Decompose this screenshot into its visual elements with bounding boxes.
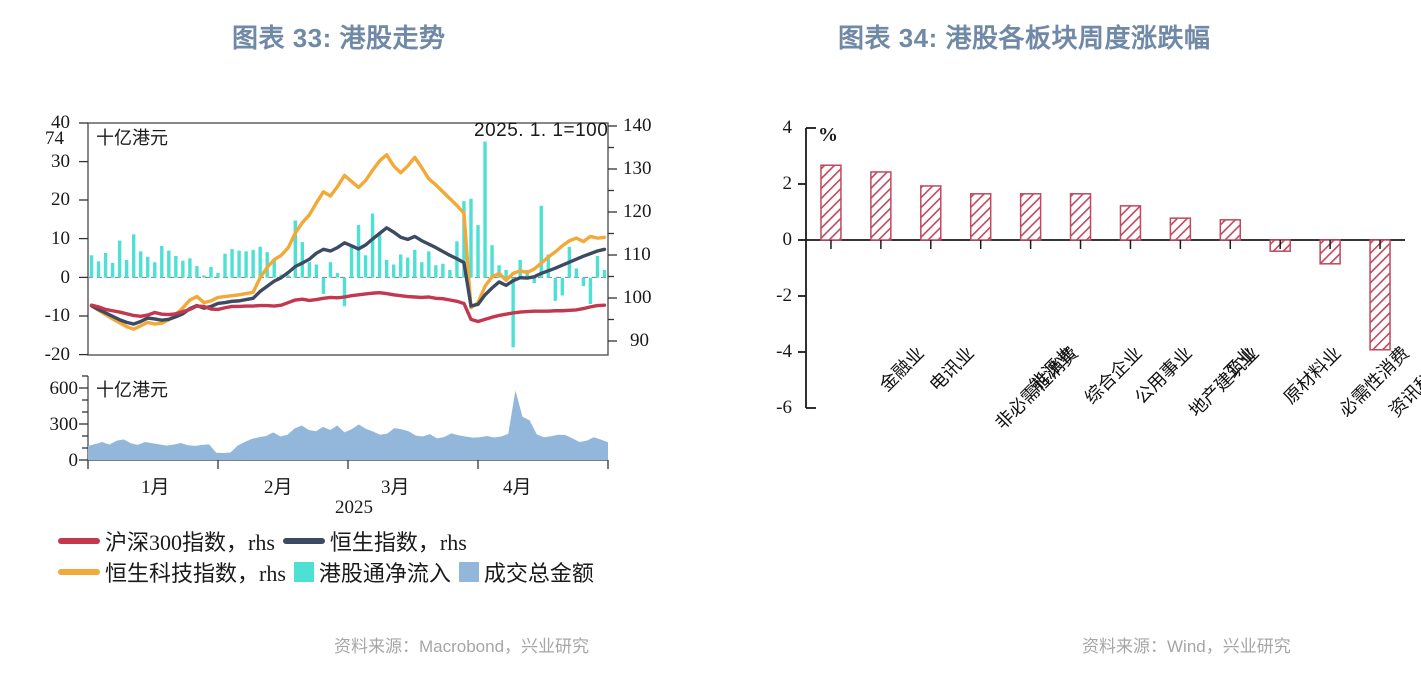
fig33-rtick-130: 130 bbox=[623, 158, 673, 180]
figure-33-panel: 图表 33: 港股走势 74 bbox=[0, 0, 760, 692]
fig34-ytick-m6: -6 bbox=[752, 397, 792, 419]
fig34-bar bbox=[1021, 194, 1041, 240]
fig34-yaxis bbox=[806, 128, 816, 408]
fig33-ytick-40: 40 bbox=[18, 112, 70, 134]
fig34-ytick-m2: -2 bbox=[752, 285, 792, 307]
fig33-ytick-20: 20 bbox=[18, 189, 70, 211]
legend-item-csi300[interactable]: 沪深300指数，rhs bbox=[58, 525, 283, 557]
fig33-ytick-10: 10 bbox=[18, 228, 70, 250]
fig33-btick-600: 600 bbox=[18, 378, 78, 400]
legend-row-1: 沪深300指数，rhs 恒生指数，rhs bbox=[58, 525, 698, 556]
fig34-bar-group bbox=[821, 165, 1390, 350]
fig34-ytick-2: 2 bbox=[752, 173, 792, 195]
fig33-bottom-axis-ticks bbox=[79, 376, 88, 460]
fig33-ytick-m20: -20 bbox=[18, 344, 70, 366]
fig34-bar bbox=[871, 172, 891, 240]
fig34-xticks bbox=[831, 240, 1380, 249]
figure-33-legend: 沪深300指数，rhs 恒生指数，rhs 恒生科技指数，rhs 港股通净流入 bbox=[58, 525, 698, 587]
fig33-xtick-jan: 1月 bbox=[141, 472, 170, 499]
fig33-normalisation-note: 2025. 1. 1=100 bbox=[474, 120, 608, 142]
fig33-xaxis-year: 2025 bbox=[335, 497, 373, 519]
fig34-bar bbox=[1071, 194, 1091, 240]
legend-label-northbound-flow: 港股通净流入 bbox=[319, 556, 451, 588]
report-figures-page: 图表 33: 港股走势 74 bbox=[0, 0, 1421, 692]
figure-33-title: 图表 33: 港股走势 bbox=[232, 18, 446, 55]
fig33-xtick-mar: 3月 bbox=[381, 472, 410, 499]
fig34-bar bbox=[1370, 240, 1390, 350]
fig33-rtick-90: 90 bbox=[630, 330, 680, 352]
fig34-bar bbox=[921, 186, 941, 240]
fig33-btick-0: 0 bbox=[18, 450, 78, 472]
fig34-bar bbox=[1170, 218, 1190, 240]
fig33-btick-300: 300 bbox=[18, 414, 78, 436]
fig33-xtick-feb: 2月 bbox=[264, 472, 293, 499]
turnover-swatch-icon bbox=[459, 562, 479, 582]
fig34-ytick-0: 0 bbox=[752, 229, 792, 251]
fig33-ytick-0: 0 bbox=[18, 267, 70, 289]
figure-34-panel: 图表 34: 港股各板块周度涨跌幅 bbox=[760, 0, 1421, 692]
fig33-line-csi300 bbox=[92, 293, 605, 322]
fig34-bar bbox=[1220, 220, 1240, 240]
hstech-line-swatch-icon bbox=[58, 569, 100, 575]
fig33-bottom-xticks bbox=[88, 460, 608, 469]
fig34-unit-label: % bbox=[818, 124, 838, 147]
legend-label-turnover: 成交总金额 bbox=[484, 556, 594, 588]
fig34-bar bbox=[971, 194, 991, 240]
fig33-rtick-120: 120 bbox=[623, 201, 673, 223]
fig33-line-hstech bbox=[92, 155, 605, 329]
fig33-right-axis-ticks bbox=[608, 126, 617, 341]
fig33-ytick-30: 30 bbox=[18, 151, 70, 173]
fig34-bar bbox=[1120, 206, 1140, 240]
figure-34-source: 资料来源：Wind，兴业研究 bbox=[1082, 632, 1291, 657]
fig34-ytick-m4: -4 bbox=[752, 341, 792, 363]
legend-item-turnover[interactable]: 成交总金额 bbox=[459, 556, 602, 588]
figure-34-title: 图表 34: 港股各板块周度涨跌幅 bbox=[838, 18, 1211, 55]
figure-33-source: 资料来源：Macrobond，兴业研究 bbox=[334, 632, 589, 657]
fig33-ytick-m10: -10 bbox=[18, 305, 70, 327]
fig33-bottom-unit-label: 十亿港元 bbox=[96, 376, 168, 402]
csi300-line-swatch-icon bbox=[58, 538, 100, 544]
fig34-yticks bbox=[798, 184, 806, 352]
legend-label-hstech: 恒生科技指数，rhs bbox=[105, 556, 286, 588]
fig34-ytick-4: 4 bbox=[752, 117, 792, 139]
fig33-xtick-apr: 4月 bbox=[503, 472, 532, 499]
legend-item-hsi[interactable]: 恒生指数，rhs bbox=[283, 525, 475, 557]
legend-item-hstech[interactable]: 恒生科技指数，rhs bbox=[58, 556, 294, 588]
fig33-top-unit-label: 十亿港元 bbox=[96, 124, 168, 150]
legend-item-northbound-flow[interactable]: 港股通净流入 bbox=[294, 556, 459, 588]
legend-label-hsi: 恒生指数，rhs bbox=[330, 525, 467, 557]
fig33-rtick-110: 110 bbox=[623, 244, 673, 266]
northbound-flow-swatch-icon bbox=[294, 562, 314, 582]
fig33-rtick-140: 140 bbox=[623, 115, 673, 137]
fig33-left-axis-ticks bbox=[79, 123, 88, 355]
legend-label-csi300: 沪深300指数，rhs bbox=[105, 525, 275, 557]
hsi-line-swatch-icon bbox=[283, 538, 325, 544]
fig33-rtick-100: 100 bbox=[623, 287, 673, 309]
legend-row-2: 恒生科技指数，rhs 港股通净流入 成交总金额 bbox=[58, 556, 698, 587]
fig34-bar bbox=[821, 165, 841, 240]
